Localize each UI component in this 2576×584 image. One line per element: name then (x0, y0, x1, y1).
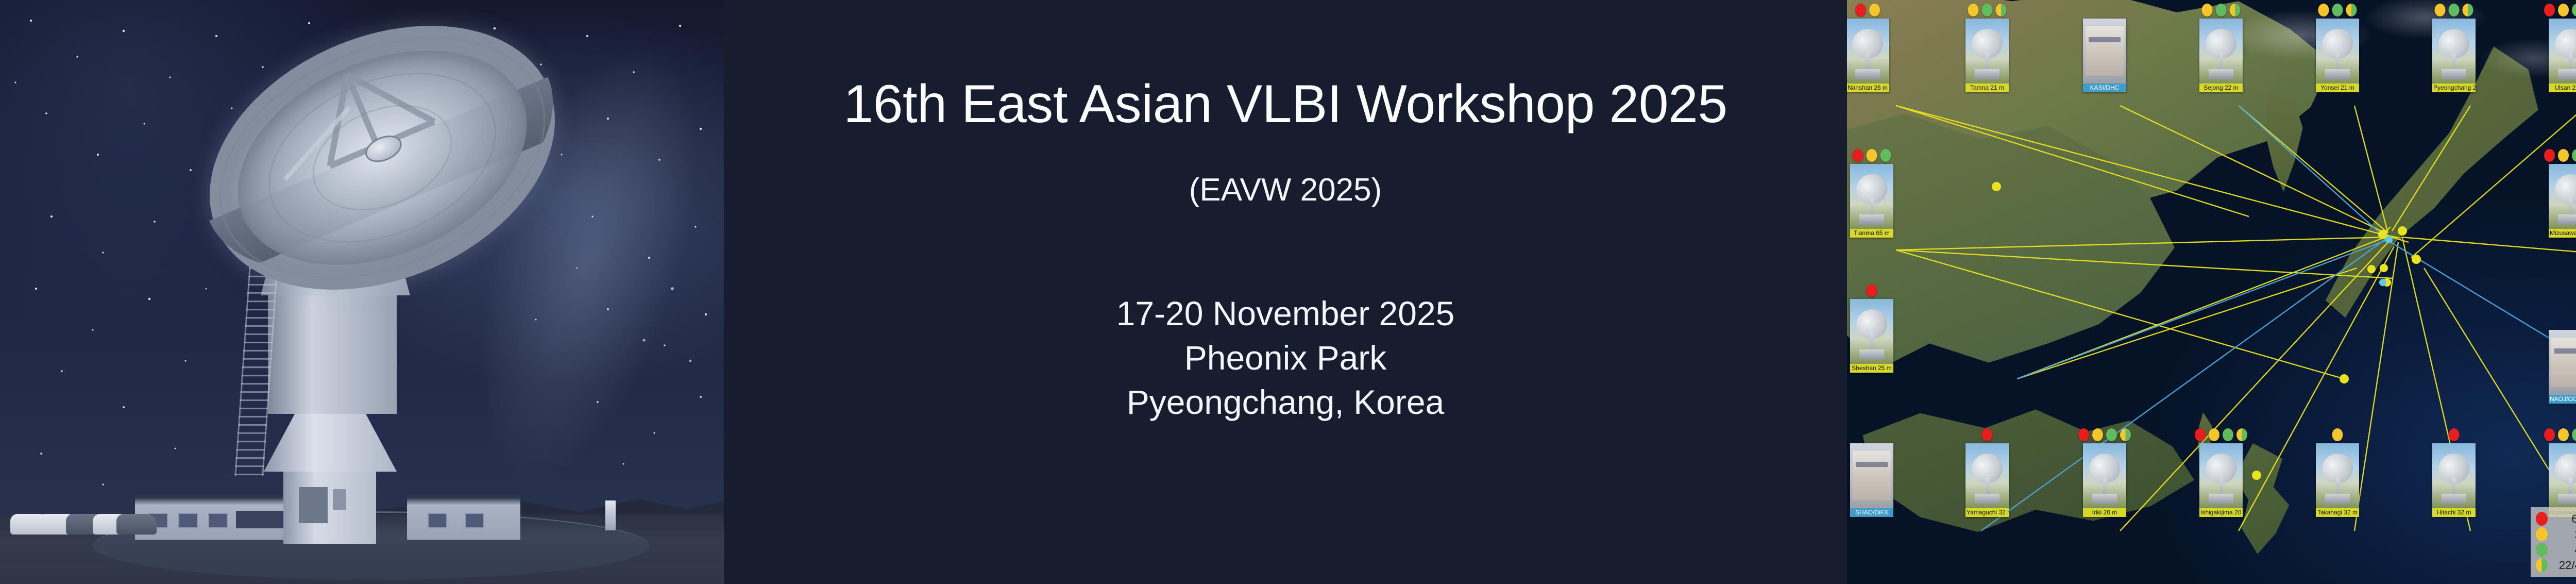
frequency-dot-yel-icon (1968, 4, 1979, 16)
base-shape (1975, 494, 1999, 504)
station-card[interactable]: Takahagi 32 m (2316, 443, 2359, 517)
monument-stone (605, 500, 616, 530)
station-card[interactable]: NAOJ/OCTACOR2 (2549, 330, 2576, 404)
telescope-night-photo (0, 0, 724, 584)
legend-dot-grn-icon (2536, 543, 2548, 557)
antenna-pedestal (283, 466, 376, 544)
station-card[interactable]: KASI/DHC (2083, 19, 2126, 92)
frequency-dot-red-icon (2195, 428, 2206, 441)
frequency-dot-yel-icon (2209, 428, 2219, 441)
legend-dot-yel-icon (2536, 527, 2548, 541)
station-photo (2083, 19, 2126, 84)
frequency-dot-red-icon (1867, 284, 1877, 297)
station-label: Iriki 20 m (2083, 508, 2126, 517)
building-shape (1853, 451, 1891, 500)
frequency-dot-yel-icon (2332, 428, 2343, 441)
frequency-dot-half-icon (2463, 4, 2473, 16)
base-shape (1859, 214, 1884, 225)
station-label: Hitachi 32 m (2432, 508, 2476, 517)
legend-label: 43 GHz (2559, 543, 2576, 557)
legend-label: 6.7 GHz (2559, 512, 2576, 526)
base-shape (2325, 494, 2349, 504)
event-date: 17-20 November 2025 (724, 292, 1847, 336)
frequency-dot-grn-icon (2572, 149, 2576, 162)
frequency-dots (2078, 428, 2131, 441)
station-photo (2316, 443, 2359, 508)
frequency-dots (2202, 4, 2241, 16)
station-photo (2549, 19, 2576, 84)
frequency-dot-yel-icon (2318, 4, 2329, 16)
frequency-dot-half-icon (1996, 4, 2007, 16)
legend-dot-half-icon (2536, 558, 2548, 572)
station-label: Nanshan 26 m (1847, 84, 1889, 92)
frequency-dot-grn-icon (2216, 4, 2227, 16)
base-shape (2558, 214, 2576, 225)
frequency-dot-red-icon (1982, 428, 1993, 441)
station-card[interactable]: Tamna 21 m (1965, 19, 2009, 92)
parked-cars (10, 506, 139, 535)
station-label: Yamaguchi 32 m (1965, 508, 2009, 517)
frequency-dot-yel-icon (2202, 4, 2213, 16)
frequency-dot-grn-icon (2106, 428, 2117, 441)
base-shape (1859, 349, 1884, 360)
frequency-dot-grn-icon (2332, 4, 2343, 16)
event-location: Pyeongchang, Korea (724, 380, 1847, 425)
frequency-dot-yel-icon (2558, 428, 2569, 441)
frequency-dot-grn-icon (2572, 4, 2576, 16)
station-photo (2432, 19, 2476, 84)
station-photo (2549, 164, 2576, 229)
base-shape (2325, 69, 2349, 79)
frequency-dots (1867, 284, 1877, 297)
frequency-dot-yel-icon (1867, 149, 1877, 162)
frequency-dot-grn-icon (2223, 428, 2233, 441)
frequency-dot-half-icon (2346, 4, 2357, 16)
frequency-dot-yel-icon (2558, 149, 2569, 162)
station-photo (2432, 443, 2476, 508)
frequency-dots (2195, 428, 2247, 441)
frequency-dot-half-icon (2230, 4, 2241, 16)
frequency-dot-grn-icon (1880, 149, 1891, 162)
legend-row: 22/43 GHz (2536, 558, 2576, 572)
base-shape (2558, 494, 2576, 504)
frequency-dot-red-icon (2544, 428, 2555, 441)
station-card[interactable]: Tianma 65 m (1850, 164, 1893, 238)
building-shape (2551, 338, 2576, 387)
station-photo (1850, 299, 1893, 364)
workshop-acronym: (EAVW 2025) (724, 172, 1847, 208)
legend-row: 43 GHz (2536, 543, 2576, 557)
station-photo (2199, 443, 2243, 508)
frequency-dot-half-icon (2236, 428, 2247, 441)
frequency-dot-red-icon (1855, 4, 1866, 16)
station-card[interactable]: Yonsei 21 m (2316, 19, 2359, 92)
frequency-dots (2449, 428, 2460, 441)
station-photo (1847, 19, 1889, 84)
station-card[interactable]: Ulsan 21 m (2549, 19, 2576, 92)
base-shape (1855, 69, 1879, 79)
frequency-dots (2332, 428, 2343, 441)
frequency-dot-red-icon (2078, 428, 2089, 441)
station-label: SHAO/DiFX (1850, 508, 1893, 517)
vlbi-network-map: Nanshan 26 mTianma 65 mSheshan 25 mSHAO/… (1847, 0, 2576, 584)
station-card[interactable]: Mizusawa 20 m (2549, 164, 2576, 238)
station-label: Ishigakijima 20 m (2199, 508, 2243, 517)
base-shape (2442, 494, 2466, 504)
legend-label: 22 GHz (2559, 528, 2576, 541)
station-label: Sheshan 25 m (1850, 364, 1893, 373)
base-shape (1975, 69, 1999, 79)
legend-row: 22 GHz (2536, 527, 2576, 541)
station-card[interactable]: Ishigakijima 20 m (2199, 443, 2243, 517)
frequency-dot-grn-icon (1982, 4, 1993, 16)
base-shape (2442, 69, 2466, 79)
base-shape (2558, 69, 2576, 79)
station-card[interactable]: Yamaguchi 32 m (1965, 443, 2009, 517)
control-building-right (407, 495, 520, 540)
station-photo (1965, 443, 2009, 508)
frequency-dot-half-icon (2120, 428, 2131, 441)
frequency-dot-yel-icon (2435, 4, 2446, 16)
eavw-2025-banner: 16th East Asian VLBI Workshop 2025 (EAVW… (0, 0, 2576, 584)
station-photo (2549, 330, 2576, 395)
station-photo (1850, 164, 1893, 229)
station-card[interactable]: Ogasawara 20 m (2549, 443, 2576, 517)
event-details: 17-20 November 2025 Pheonix Park Pyeongc… (724, 292, 1847, 424)
station-label: Pyeongchang 21 m (2432, 84, 2476, 92)
frequency-dots (2435, 4, 2473, 16)
title-panel: 16th East Asian VLBI Workshop 2025 (EAVW… (724, 0, 1847, 584)
legend-dot-red-icon (2536, 512, 2548, 526)
legend-label: 22/43 GHz (2559, 559, 2576, 572)
station-label: Tamna 21 m (1965, 84, 2009, 92)
frequency-dot-yel-icon (1869, 4, 1880, 16)
station-photo (2549, 443, 2576, 508)
workshop-title: 16th East Asian VLBI Workshop 2025 (724, 76, 1847, 132)
station-label: Sejong 22 m (2199, 84, 2243, 92)
building-shape (2086, 26, 2124, 76)
base-shape (2209, 69, 2233, 79)
frequency-dot-red-icon (2544, 4, 2555, 16)
station-photo (1850, 443, 1893, 508)
station-label: Tianma 65 m (1850, 229, 1893, 238)
frequency-dots (2544, 4, 2576, 16)
frequency-dots (1968, 4, 2007, 16)
frequency-dot-red-icon (2544, 149, 2555, 162)
base-shape (2092, 494, 2116, 504)
frequency-dot-yel-icon (2558, 4, 2569, 16)
frequency-dots (1982, 428, 1993, 441)
frequency-dot-red-icon (2449, 428, 2460, 441)
frequency-dots (2318, 4, 2357, 16)
station-card[interactable]: Sejong 22 m (2199, 19, 2243, 92)
station-photo (2316, 19, 2359, 84)
station-card[interactable]: Pyeongchang 21 m (2432, 19, 2476, 92)
frequency-dot-yel-icon (2092, 428, 2103, 441)
station-label: Ulsan 21 m (2549, 84, 2576, 92)
frequency-legend: 6.7 GHz22 GHz43 GHz22/43 GHz (2531, 507, 2576, 577)
base-shape (2209, 494, 2233, 504)
frequency-dot-red-icon (1853, 149, 1863, 162)
station-card[interactable]: Sheshan 25 m (1850, 299, 1893, 373)
station-label: Mizusawa 20 m (2549, 229, 2576, 238)
station-label: NAOJ/OCTACOR2 (2549, 395, 2576, 404)
frequency-dots (2544, 428, 2576, 441)
station-photo (2083, 443, 2126, 508)
station-card[interactable]: Hitachi 32 m (2432, 443, 2476, 517)
event-venue: Pheonix Park (724, 336, 1847, 380)
frequency-dots (1855, 4, 1880, 16)
station-photo (1965, 19, 2009, 84)
frequency-dots (1853, 149, 1891, 162)
station-photo (2199, 19, 2243, 84)
frequency-dots (2544, 149, 2576, 162)
station-card[interactable]: Nanshan 26 m (1847, 19, 1889, 92)
control-building-left (135, 495, 305, 540)
station-label: Takahagi 32 m (2316, 508, 2359, 517)
frequency-dot-grn-icon (2572, 428, 2576, 441)
station-label: KASI/DHC (2083, 84, 2126, 92)
station-card[interactable]: SHAO/DiFX (1850, 443, 1893, 517)
station-label: Yonsei 21 m (2316, 84, 2359, 92)
legend-row: 6.7 GHz (2536, 512, 2576, 526)
frequency-dot-grn-icon (2449, 4, 2460, 16)
station-card[interactable]: Iriki 20 m (2083, 443, 2126, 517)
